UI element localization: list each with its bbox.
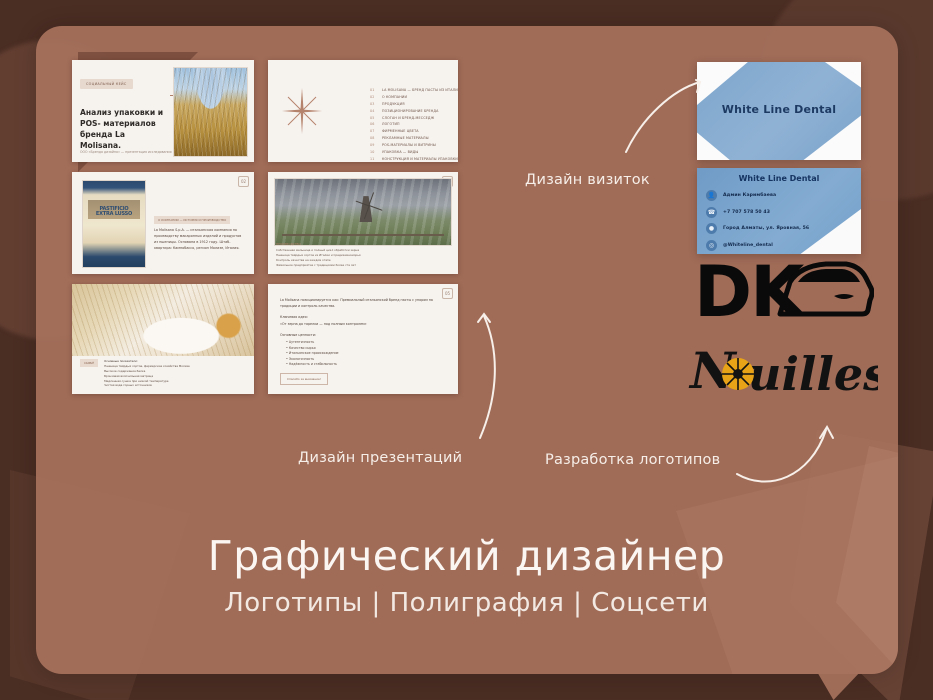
wheat-field-photo — [173, 67, 248, 157]
list-item: 06ЛОГОТИП — [370, 122, 450, 126]
list-item: 02О КОМПАНИИ — [370, 95, 450, 99]
label-card-design: Дизайн визиток — [525, 172, 650, 188]
contact-instagram: @Whiteline_dental — [723, 243, 773, 248]
slide-title-tag: СОЦИАЛЬНЫЙ КЕЙС — [80, 79, 133, 89]
positioning-values-title: Основные ценности: — [280, 333, 446, 339]
car-silhouette-icon: DK — [694, 252, 874, 330]
slide-contents[interactable]: 01LA MOLISANA — БРЕНД ПАСТЫ ИЗ ИТАЛИИ 02… — [268, 60, 458, 162]
positioning-values-list: • Аутентичность • Качество сырья • Италь… — [280, 340, 446, 368]
fence-line — [282, 234, 444, 235]
page-subtitle: Логотипы | Полиграфия | Соцсети — [0, 588, 933, 618]
location-icon: ● — [706, 223, 717, 234]
business-card-front[interactable]: White Line Dental — [697, 62, 861, 160]
list-item: • Надёжность и стабильность — [286, 362, 446, 368]
list-item: 11КОНСТРУКЦИЯ И МАТЕРИАЛЫ УПАКОВКИ — [370, 157, 450, 161]
package-brand-text: PASTIFICIO EXTRA LUSSO — [83, 207, 145, 218]
phone-icon: ☎ — [706, 207, 717, 218]
label-logo-development: Разработка логотипов — [545, 452, 720, 468]
contact-row-person: 👤 Админ Каримбаева — [706, 190, 861, 201]
svg-text:uilles: uilles — [748, 347, 878, 401]
poster-canvas: СОЦИАЛЬНЫЙ КЕЙС Анализ упаковки и POS- м… — [0, 0, 933, 700]
list-item: 03ПРОДУКЦИЯ — [370, 102, 450, 106]
windmill-landscape-photo — [274, 178, 452, 246]
contact-person-name: Админ Каримбаева — [723, 193, 776, 198]
card-brand-name: White Line Dental — [697, 103, 861, 116]
list-item: 08РЕКЛАМНЫЕ МАТЕРИАЛЫ — [370, 136, 450, 140]
label-presentation-design: Дизайн презентаций — [298, 450, 462, 466]
thanks-button[interactable]: Спасибо за внимание! — [280, 373, 328, 385]
list-item: 09POS-МАТЕРИАЛЫ И ВИТРИНЫ — [370, 143, 450, 147]
contact-address: Город Алматы, ул. Яровная, 56 — [723, 226, 809, 231]
slide-company[interactable]: 02 PASTIFICIO EXTRA LUSSO О КОМПАНИИ — И… — [72, 172, 254, 274]
slide-company-kicker: О КОМПАНИИ — ИСТОРИЯ И ПРОИЗВОДСТВО — [154, 216, 230, 224]
pasta-wheel-icon: N uilles — [686, 332, 878, 404]
contact-phone: +7 707 578 50 43 — [723, 210, 770, 215]
contact-row-phone: ☎ +7 707 578 50 43 — [706, 207, 861, 218]
list-item: 10УПАКОВКА — ВИДЫ — [370, 150, 450, 154]
flour-wheat-photo — [72, 284, 254, 356]
slide-flour-tag: СЫРЬЁ — [80, 359, 98, 367]
logo-dk[interactable]: DK — [694, 252, 874, 330]
page-title: Графический дизайнер — [0, 532, 933, 580]
headline-block: Графический дизайнер Логотипы | Полиграф… — [0, 532, 933, 618]
slide-title-heading: Анализ упаковки и POS- материалов бренда… — [80, 107, 166, 151]
list-item: Фамильное предприятие с традициями более… — [276, 263, 450, 268]
svg-text:DK: DK — [694, 252, 807, 330]
card-back-brand-name: White Line Dental — [697, 174, 861, 183]
contents-list: 01LA MOLISANA — БРЕНД ПАСТЫ ИЗ ИТАЛИИ 02… — [330, 88, 450, 162]
list-item: Основные показатели: — [104, 359, 190, 364]
list-item: 04ПОЗИЦИОНИРОВАНИЕ БРЕНДА — [370, 109, 450, 113]
slide-title[interactable]: СОЦИАЛЬНЫЙ КЕЙС Анализ упаковки и POS- м… — [72, 60, 254, 162]
slide-company-text: La Molisana S.p.A. — итальянская компани… — [154, 228, 245, 252]
pasta-package-photo: PASTIFICIO EXTRA LUSSO — [82, 180, 146, 268]
slide-landscape[interactable]: 03 ПРОИЗВОДСТВО Собственная мельница и п… — [268, 172, 458, 274]
star-burst-icon — [282, 88, 322, 134]
slide-company-body: О КОМПАНИИ — ИСТОРИЯ И ПРОИЗВОДСТВО La M… — [154, 206, 245, 252]
flour-list: Основные показатели: Пшеница твёрдых сор… — [104, 359, 190, 389]
slide-title-footer: ООО «Бренда дизайна» — презентация иссле… — [80, 150, 172, 154]
list-item: 05СЛОГАН И БРЕНД-МЕССЕДЖ — [370, 116, 450, 120]
list-item: 01LA MOLISANA — БРЕНД ПАСТЫ ИЗ ИТАЛИИ — [370, 88, 450, 92]
list-item: Чистая вода горных источников — [104, 383, 190, 388]
windmill-blades-icon — [356, 192, 382, 218]
instagram-icon: ◎ — [706, 240, 717, 251]
business-card-back[interactable]: White Line Dental 👤 Админ Каримбаева ☎ +… — [697, 168, 861, 254]
slide-flour[interactable]: 04 СЫРЬЁ Основные показатели: Пшеница тв… — [72, 284, 254, 394]
slide-title-text-col: СОЦИАЛЬНЫЙ КЕЙС Анализ упаковки и POS- м… — [72, 60, 174, 162]
positioning-key-idea: «От зерна до тарелки — под полным контро… — [280, 322, 446, 328]
positioning-key-title: Ключевая идея: — [280, 315, 446, 321]
list-item: 07ФИРМЕННЫЕ ЦВЕТА — [370, 129, 450, 133]
slide-page-number: 05 — [442, 288, 453, 299]
slide-positioning[interactable]: 05 La Molisana позиционируется как: Прем… — [268, 284, 458, 394]
panel-tail-notch — [816, 670, 862, 700]
logo-nouilles[interactable]: N uilles — [686, 332, 878, 404]
slide-page-number: 02 — [238, 176, 249, 187]
presentation-slide-grid: СОЦИАЛЬНЫЙ КЕЙС Анализ упаковки и POS- м… — [72, 60, 458, 396]
caption-title: ПРОИЗВОДСТВО — [276, 242, 450, 246]
person-icon: 👤 — [706, 190, 717, 201]
positioning-para-1: La Molisana позиционируется как: Премиал… — [280, 298, 446, 309]
slide-landscape-caption: ПРОИЗВОДСТВО Собственная мельница и полн… — [276, 242, 450, 268]
slide-flour-body: СЫРЬЁ Основные показатели: Пшеница твёрд… — [80, 359, 246, 389]
